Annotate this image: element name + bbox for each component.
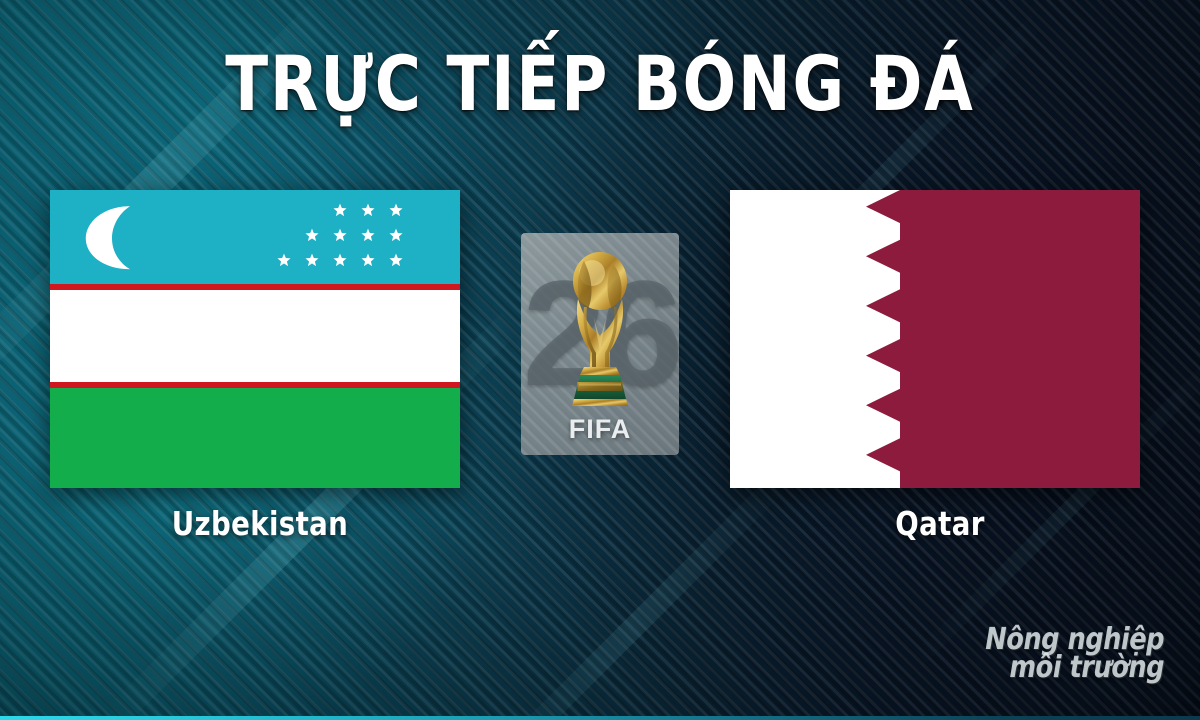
home-team: Uzbekistan xyxy=(50,190,470,543)
star-icon xyxy=(361,253,375,267)
uzbekistan-flag-stars xyxy=(165,203,403,270)
away-team: Qatar xyxy=(730,190,1150,543)
home-team-name: Uzbekistan xyxy=(65,504,456,543)
star-icon xyxy=(389,228,403,242)
star-icon xyxy=(389,203,403,217)
uzbekistan-flag xyxy=(50,190,460,488)
world-cup-trophy-icon xyxy=(554,247,646,407)
live-football-banner: TRỰC TIẾP BÓNG ĐÁ xyxy=(0,0,1200,720)
star-icon xyxy=(389,253,403,267)
qatar-flag xyxy=(730,190,1140,488)
star-icon xyxy=(277,253,291,267)
star-icon xyxy=(361,203,375,217)
star-icon xyxy=(361,228,375,242)
star-icon xyxy=(333,228,347,242)
star-row-3 xyxy=(277,253,403,267)
uzbekistan-flag-green-band xyxy=(50,388,460,488)
crescent-moon-icon xyxy=(71,202,153,272)
star-row-1 xyxy=(333,203,403,217)
qatar-flag-maroon-band xyxy=(730,190,1140,488)
star-row-2 xyxy=(305,228,403,242)
star-icon xyxy=(333,253,347,267)
fifa-world-cup-26-logo: 26 xyxy=(521,233,679,455)
banner-title: TRỰC TIẾP BÓNG ĐÁ xyxy=(48,46,1152,122)
away-team-name: Qatar xyxy=(745,504,1136,543)
star-icon xyxy=(333,203,347,217)
watermark-line-2: môi trường xyxy=(936,654,1164,682)
star-icon xyxy=(305,253,319,267)
fifa-wordmark: FIFA xyxy=(521,414,679,445)
star-icon xyxy=(305,228,319,242)
uzbekistan-flag-white-band xyxy=(50,290,460,382)
publisher-watermark: Nông nghiệp môi trường xyxy=(930,626,1170,682)
